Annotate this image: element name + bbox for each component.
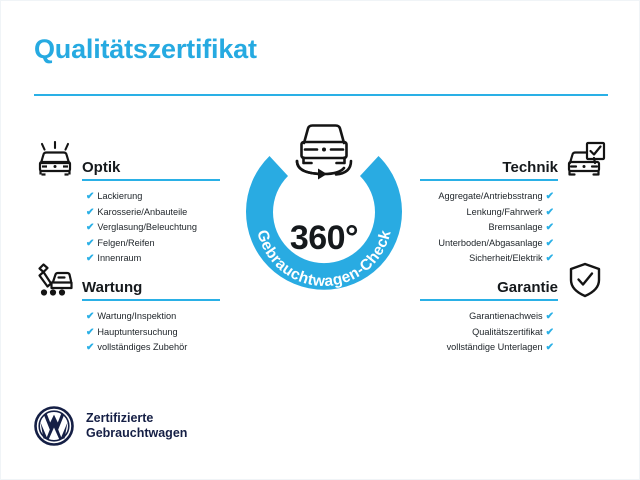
footer-logo: Zertifizierte Gebrauchtwagen <box>34 406 187 446</box>
footer-logo-text: Zertifizierte Gebrauchtwagen <box>86 411 187 441</box>
section-optik-divider <box>82 179 220 181</box>
footer-logo-line1: Zertifizierte <box>86 411 187 426</box>
section-wartung-items: ✔Wartung/Inspektion ✔Hauptuntersuchung ✔… <box>34 309 220 356</box>
list-item-label: Garantienachweis <box>469 311 543 321</box>
list-item-label: Sicherheit/Elektrik <box>469 253 543 263</box>
check-icon: ✔ <box>86 191 94 202</box>
section-optik-title: Optik <box>82 159 120 176</box>
list-item-label: Unterboden/Abgasanlage <box>438 238 542 248</box>
check-icon: ✔ <box>546 207 554 218</box>
list-item-label: Felgen/Reifen <box>97 238 154 248</box>
check-icon: ✔ <box>546 342 554 353</box>
list-item-label: Lackierung <box>97 191 142 201</box>
list-item-label: Verglasung/Beleuchtung <box>97 222 197 232</box>
wrench-car-icon <box>34 261 76 299</box>
list-item-label: vollständige Unterlagen <box>447 342 543 352</box>
check-icon: ✔ <box>86 253 94 264</box>
list-item: ✔vollständiges Zubehör <box>86 340 220 356</box>
car-polish-icon <box>34 141 76 179</box>
check-icon: ✔ <box>86 327 94 338</box>
list-item: ✔Felgen/Reifen <box>86 236 220 252</box>
list-item-label: Karosserie/Anbauteile <box>97 207 187 217</box>
section-optik-header: Optik <box>34 149 220 179</box>
check-icon: ✔ <box>546 222 554 233</box>
shield-check-icon <box>564 261 606 299</box>
check-icon: ✔ <box>546 238 554 249</box>
list-item-label: Wartung/Inspektion <box>97 311 176 321</box>
list-item: vollständige Unterlagen✔ <box>420 340 554 356</box>
list-item-label: Aggregate/Antriebsstrang <box>438 191 542 201</box>
section-wartung: Wartung ✔Wartung/Inspektion ✔Hauptunters… <box>34 269 220 356</box>
section-wartung-title: Wartung <box>82 279 142 296</box>
section-garantie-items: Garantienachweis✔ Qualitätszertifikat✔ v… <box>420 309 606 356</box>
list-item: Sicherheit/Elektrik✔ <box>420 251 554 267</box>
list-item: ✔Lackierung <box>86 189 220 205</box>
list-item-label: Innenraum <box>97 253 141 263</box>
section-wartung-header: Wartung <box>34 269 220 299</box>
car-checkbox-icon <box>564 141 606 179</box>
section-garantie-divider <box>420 299 558 301</box>
list-item: Qualitätszertifikat✔ <box>420 325 554 341</box>
list-item-label: Hauptuntersuchung <box>97 327 177 337</box>
section-garantie-title: Garantie <box>497 279 558 296</box>
list-item: Lenkung/Fahrwerk✔ <box>420 205 554 221</box>
car-rotation-icon <box>284 119 364 181</box>
list-item-label: vollständiges Zubehör <box>97 342 187 352</box>
page-title: Qualitätszertifikat <box>34 34 257 65</box>
list-item: ✔Hauptuntersuchung <box>86 325 220 341</box>
list-item: ✔Innenraum <box>86 251 220 267</box>
footer-logo-line2: Gebrauchtwagen <box>86 426 187 441</box>
section-wartung-divider <box>82 299 220 301</box>
list-item-label: Qualitätszertifikat <box>472 327 542 337</box>
check-icon: ✔ <box>546 191 554 202</box>
list-item: Garantienachweis✔ <box>420 309 554 325</box>
check-icon: ✔ <box>86 222 94 233</box>
list-item-label: Bremsanlage <box>488 222 542 232</box>
badge-center-label: 360° <box>229 219 419 258</box>
check-icon: ✔ <box>86 207 94 218</box>
section-optik: Optik ✔Lackierung ✔Karosserie/Anbauteile… <box>34 149 220 267</box>
check-icon: ✔ <box>546 311 554 322</box>
section-technik-title: Technik <box>502 159 558 176</box>
section-optik-items: ✔Lackierung ✔Karosserie/Anbauteile ✔Verg… <box>34 189 220 267</box>
section-technik: Technik Aggregate/Antriebsstrang✔ Lenkun… <box>420 149 606 267</box>
section-technik-items: Aggregate/Antriebsstrang✔ Lenkung/Fahrwe… <box>420 189 606 267</box>
section-garantie-header: Garantie <box>420 269 606 299</box>
check-icon: ✔ <box>86 238 94 249</box>
list-item-label: Lenkung/Fahrwerk <box>467 207 543 217</box>
section-technik-divider <box>420 179 558 181</box>
list-item: ✔Karosserie/Anbauteile <box>86 205 220 221</box>
check-icon: ✔ <box>546 253 554 264</box>
list-item: Unterboden/Abgasanlage✔ <box>420 236 554 252</box>
certificate-page: Qualitätszertifikat <box>0 0 640 480</box>
list-item: Aggregate/Antriebsstrang✔ <box>420 189 554 205</box>
section-technik-header: Technik <box>420 149 606 179</box>
volkswagen-logo-icon <box>34 406 74 446</box>
list-item: Bremsanlage✔ <box>420 220 554 236</box>
title-divider <box>34 94 608 96</box>
check-icon: ✔ <box>86 342 94 353</box>
check-icon: ✔ <box>86 311 94 322</box>
360-badge: Gebrauchtwagen-Check 360° <box>229 123 419 313</box>
section-garantie: Garantie Garantienachweis✔ Qualitätszert… <box>420 269 606 356</box>
list-item: ✔Verglasung/Beleuchtung <box>86 220 220 236</box>
check-icon: ✔ <box>546 327 554 338</box>
list-item: ✔Wartung/Inspektion <box>86 309 220 325</box>
